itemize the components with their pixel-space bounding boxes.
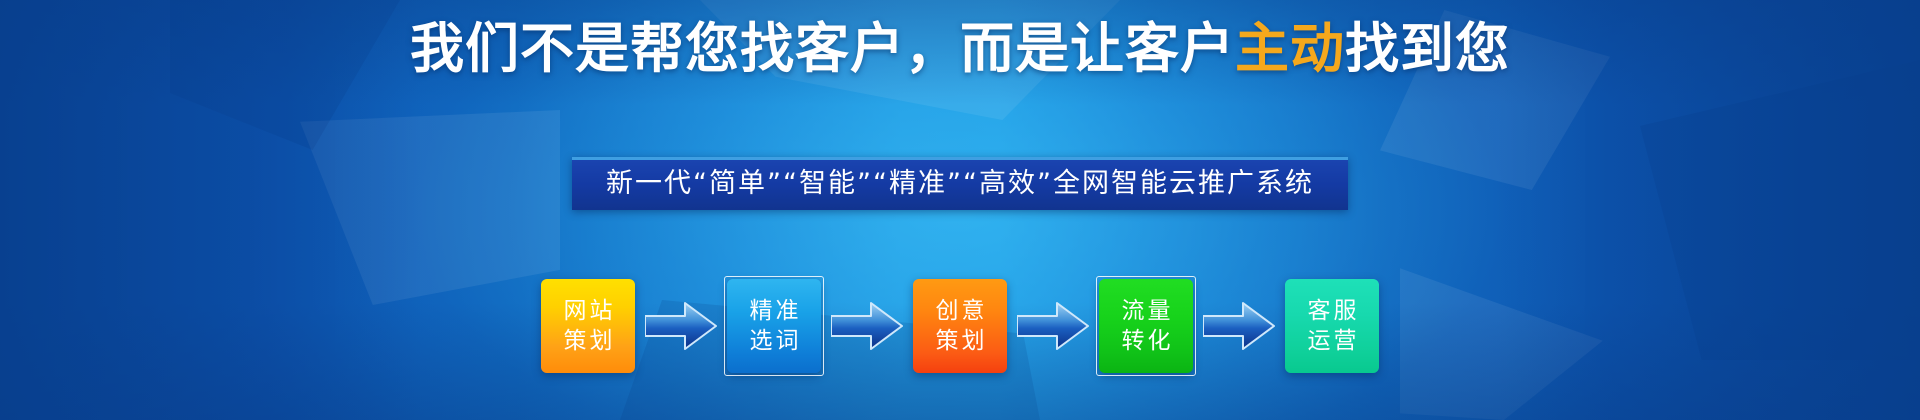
process-step-line1: 网站 [561,296,616,326]
process-step-line1: 精准 [747,296,802,326]
arrow-right-icon-3 [1017,299,1089,353]
arrow-right-icon-4 [1203,299,1275,353]
promo-banner: 我们不是帮您找客户，而是让客户主动找到您 新一代“简单”“智能”“精准”“高效”… [0,0,1920,420]
process-step-website-planning[interactable]: 网站 策划 [541,279,635,373]
process-chain: 网站 策划 精准 选词 [0,268,1920,383]
process-step-line2: 运营 [1305,326,1360,356]
subtitle-bar-wrapper: 新一代“简单”“智能”“精准”“高效”全网智能云推广系统 [0,157,1920,210]
process-step-line2: 策划 [933,326,988,356]
process-step-line2: 策划 [561,326,616,356]
process-step-customer-service-operations[interactable]: 客服 运营 [1285,279,1379,373]
headline-suffix: 找到您 [1345,17,1510,80]
headline-highlight: 主动 [1235,17,1345,80]
process-step-line2: 转化 [1119,326,1174,356]
arrow-right-icon-1 [645,299,717,353]
process-step-creative-planning[interactable]: 创意 策划 [913,279,1007,373]
headline-prefix: 我们不是帮您找客户，而是让客户 [410,17,1235,80]
process-step-precise-keywords[interactable]: 精准 选词 [727,279,821,373]
subtitle-bar: 新一代“简单”“智能”“精准”“高效”全网智能云推广系统 [572,157,1348,210]
process-step-line1: 客服 [1305,296,1360,326]
process-step-line1: 流量 [1119,296,1174,326]
process-step-line2: 选词 [747,326,802,356]
headline: 我们不是帮您找客户，而是让客户主动找到您 [0,18,1920,80]
process-step-traffic-conversion[interactable]: 流量 转化 [1099,279,1193,373]
arrow-right-icon-2 [831,299,903,353]
process-step-line1: 创意 [933,296,988,326]
